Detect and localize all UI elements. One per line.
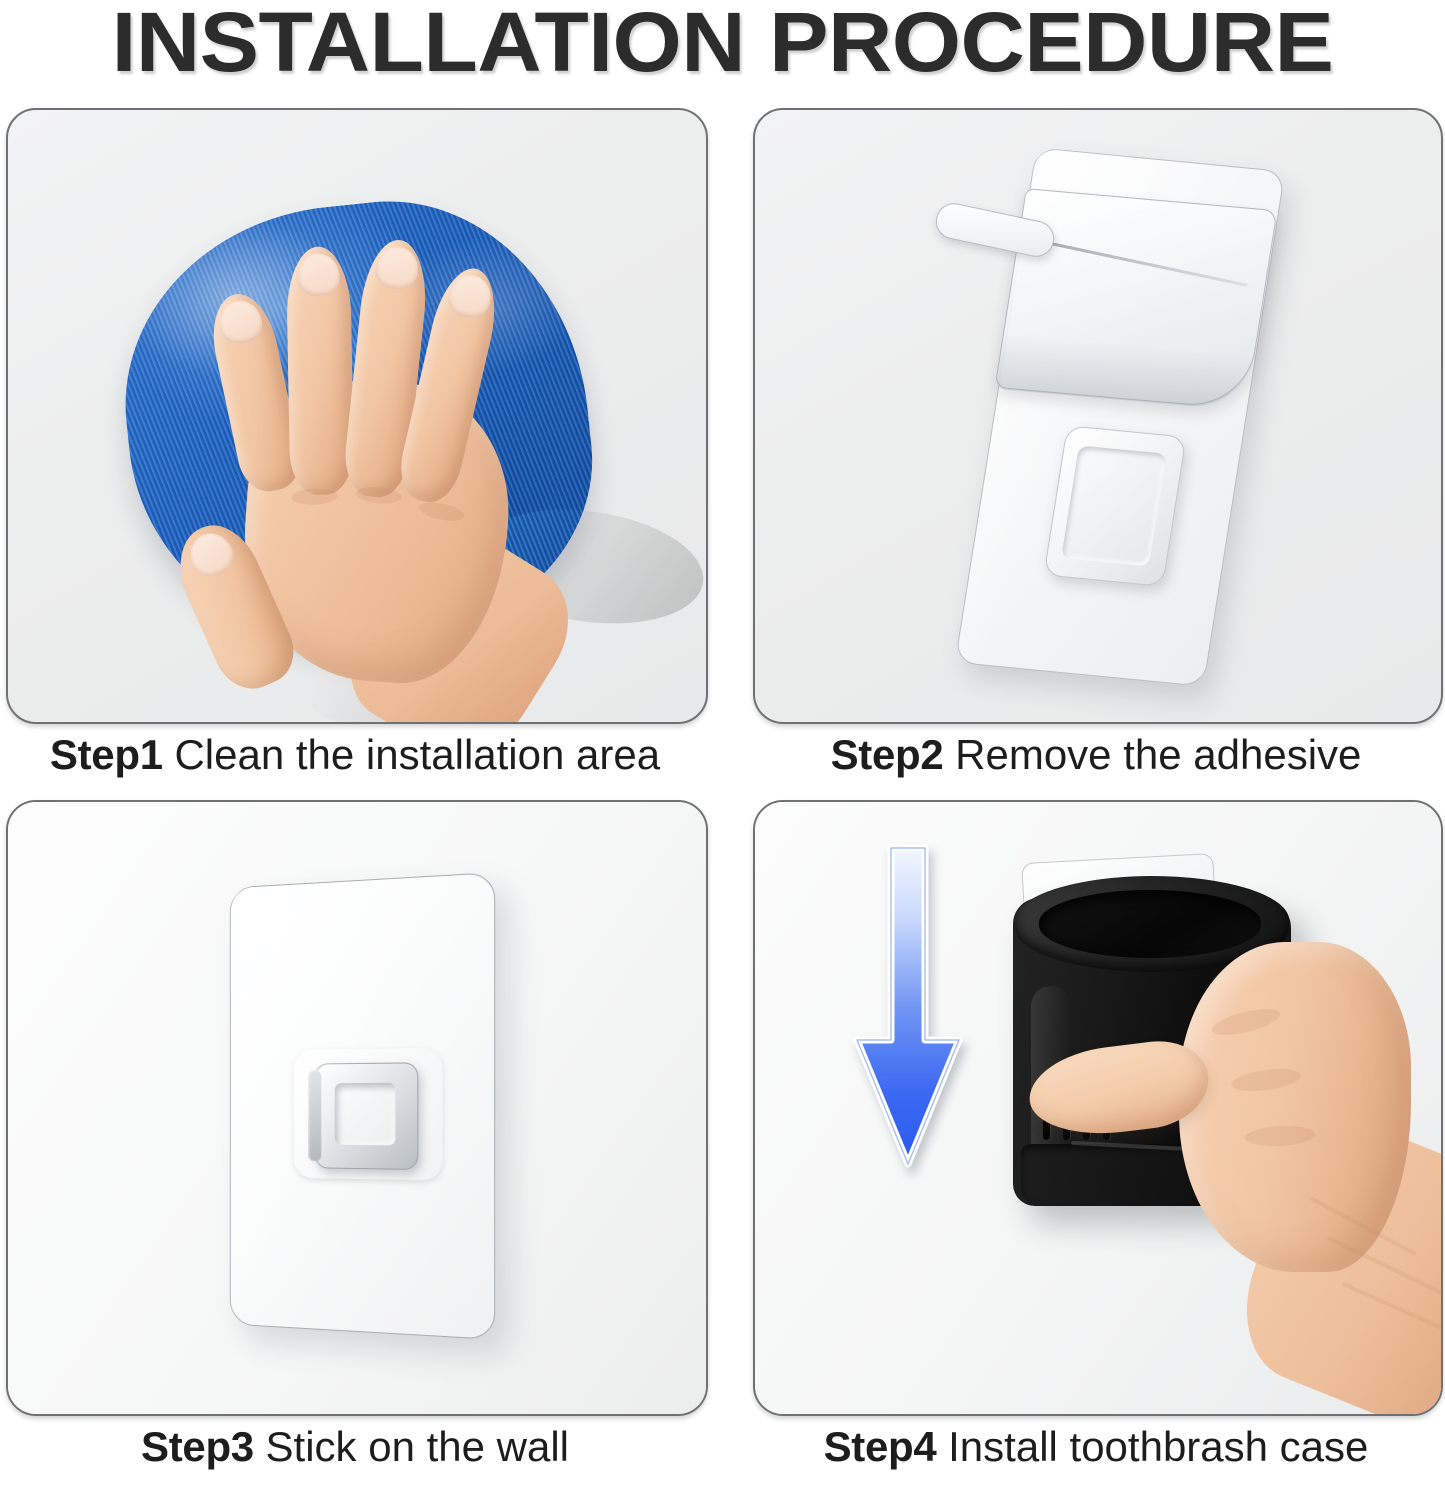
step-description: Stick on the wall — [266, 1423, 569, 1470]
step-description: Remove the adhesive — [955, 731, 1361, 778]
step-label: Step1 — [50, 731, 163, 778]
step-image-panel-1 — [6, 108, 708, 724]
step-label: Step3 — [141, 1423, 254, 1470]
hand-holding-case — [1123, 894, 1443, 1404]
mounting-boss — [315, 1062, 419, 1170]
scene-stick-on-wall — [8, 802, 706, 1414]
fingernail — [216, 297, 266, 347]
adhesive-sticker-mounted — [230, 872, 495, 1340]
finger — [286, 246, 354, 495]
step-card-1: Step1 Clean the installation area — [6, 108, 704, 798]
fingernail — [374, 245, 420, 291]
step-card-2: Step2 Remove the adhesive — [753, 108, 1439, 798]
scene-clean-area — [8, 110, 706, 722]
step-caption-4: Step4 Install toothbrash case — [753, 1420, 1439, 1474]
scene-install-case — [755, 802, 1441, 1414]
step-description: Install toothbrash case — [948, 1423, 1368, 1470]
palm — [1179, 942, 1411, 1272]
mounting-boss-recess — [1061, 445, 1167, 566]
steps-grid: Step1 Clean the installation area Step2 … — [0, 108, 1445, 1464]
step-description: Clean the installation area — [174, 731, 660, 778]
step-image-panel-3 — [6, 800, 708, 1416]
step-caption-1: Step1 Clean the installation area — [6, 728, 704, 782]
fingernail — [297, 253, 340, 296]
step-label: Step2 — [831, 731, 944, 778]
mounting-pad — [294, 1048, 443, 1181]
scene-remove-adhesive — [755, 110, 1441, 722]
mounting-boss-recess — [335, 1083, 396, 1146]
mounting-boss — [1043, 425, 1186, 587]
fingernail — [445, 271, 495, 321]
step-card-3: Step3 Stick on the wall — [6, 800, 704, 1490]
hand-wiping — [182, 219, 543, 701]
step-caption-2: Step2 Remove the adhesive — [753, 728, 1439, 782]
mounting-boss-lip — [308, 1070, 321, 1161]
step-image-panel-2 — [753, 108, 1443, 724]
thumbnail — [184, 527, 239, 582]
step-image-panel-4 — [753, 800, 1443, 1416]
step-label: Step4 — [824, 1423, 937, 1470]
step-caption-3: Step3 Stick on the wall — [6, 1420, 704, 1474]
step-card-4: Step4 Install toothbrash case — [753, 800, 1439, 1490]
down-arrow-icon — [849, 844, 967, 1174]
page-title: INSTALLATION PROCEDURE — [0, 0, 1445, 90]
